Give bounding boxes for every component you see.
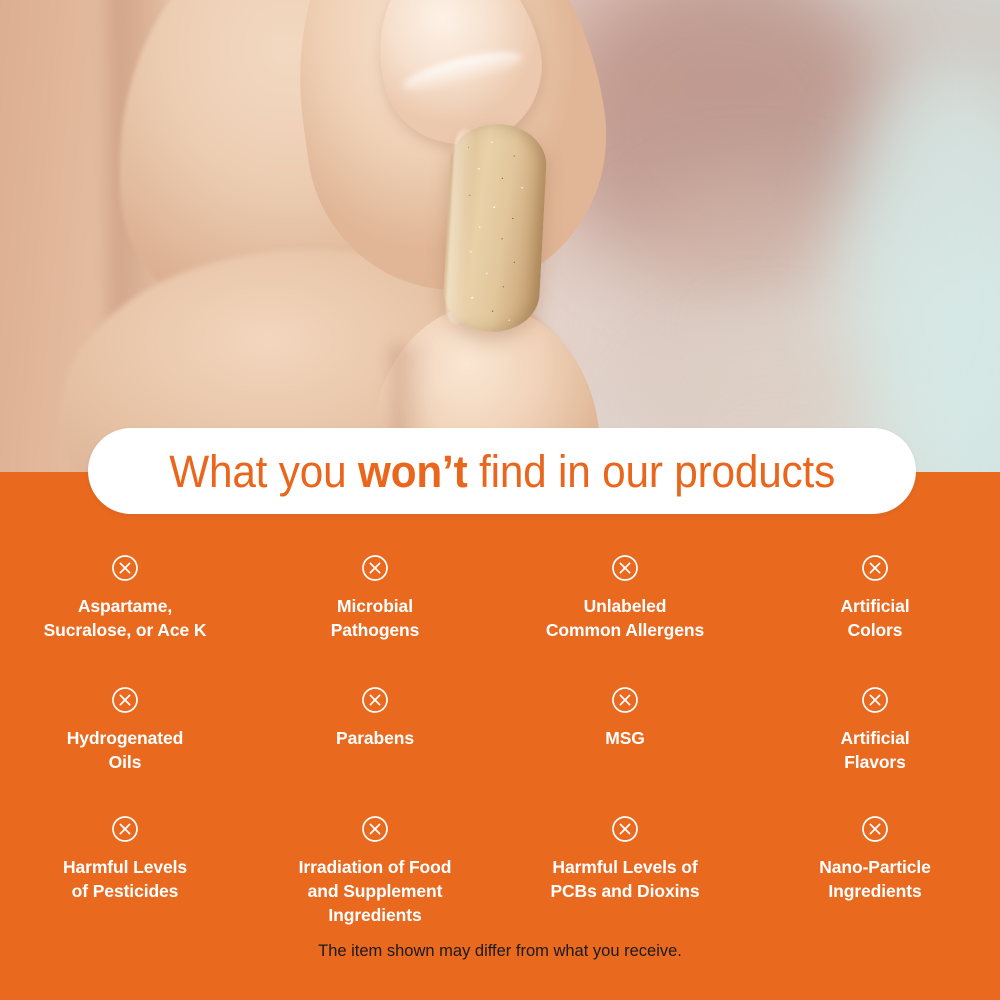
x-circle-icon	[861, 815, 889, 843]
exclusion-item: Parabens	[250, 672, 500, 801]
x-circle-icon	[111, 686, 139, 714]
x-circle-icon	[611, 554, 639, 582]
page-title: What you won’t find in our products	[169, 449, 835, 494]
exclusion-item: Irradiation of Food and Supplement Ingre…	[250, 801, 500, 935]
product-photo	[0, 0, 1000, 474]
exclusion-grid: Aspartame, Sucralose, or Ace K Microbial…	[0, 540, 1000, 935]
supplement-tablet	[442, 122, 549, 335]
exclusion-label: Aspartame, Sucralose, or Ace K	[44, 594, 207, 642]
exclusion-item: Artificial Flavors	[750, 672, 1000, 801]
exclusion-item: Nano-Particle Ingredients	[750, 801, 1000, 935]
exclusion-label: MSG	[605, 726, 645, 750]
x-circle-icon	[611, 815, 639, 843]
exclusion-item: MSG	[500, 672, 750, 801]
disclaimer-text: The item shown may differ from what you …	[0, 940, 1000, 962]
exclusion-label: Nano-Particle Ingredients	[819, 855, 931, 903]
headline-part-2: find in our products	[467, 446, 835, 497]
headline-part-1: What you	[169, 446, 358, 497]
exclusion-item: Unlabeled Common Allergens	[500, 540, 750, 672]
tablet-highlight-edge	[445, 128, 477, 325]
x-circle-icon	[111, 815, 139, 843]
exclusion-label: Parabens	[336, 726, 414, 750]
x-circle-icon	[361, 815, 389, 843]
exclusion-label: Artificial Flavors	[840, 726, 909, 774]
exclusion-item: Harmful Levels of Pesticides	[0, 801, 250, 935]
exclusion-item: Microbial Pathogens	[250, 540, 500, 672]
exclusion-label: Hydrogenated Oils	[67, 726, 183, 774]
exclusion-item: Artificial Colors	[750, 540, 1000, 672]
exclusion-label: Microbial Pathogens	[331, 594, 420, 642]
exclusion-item: Aspartame, Sucralose, or Ace K	[0, 540, 250, 672]
x-circle-icon	[111, 554, 139, 582]
exclusion-item: Hydrogenated Oils	[0, 672, 250, 801]
headline-pill: What you won’t find in our products	[88, 428, 916, 514]
exclusion-label: Harmful Levels of PCBs and Dioxins	[550, 855, 699, 903]
x-circle-icon	[861, 686, 889, 714]
exclusion-label: Unlabeled Common Allergens	[546, 594, 704, 642]
x-circle-icon	[861, 554, 889, 582]
headline-emphasis: won’t	[358, 446, 467, 497]
x-circle-icon	[361, 686, 389, 714]
product-claims-poster: What you won’t find in our products Aspa…	[0, 0, 1000, 1000]
exclusion-label: Irradiation of Food and Supplement Ingre…	[299, 855, 452, 927]
exclusion-item: Harmful Levels of PCBs and Dioxins	[500, 801, 750, 935]
x-circle-icon	[611, 686, 639, 714]
exclusion-label: Artificial Colors	[840, 594, 909, 642]
exclusion-label: Harmful Levels of Pesticides	[63, 855, 187, 903]
x-circle-icon	[361, 554, 389, 582]
